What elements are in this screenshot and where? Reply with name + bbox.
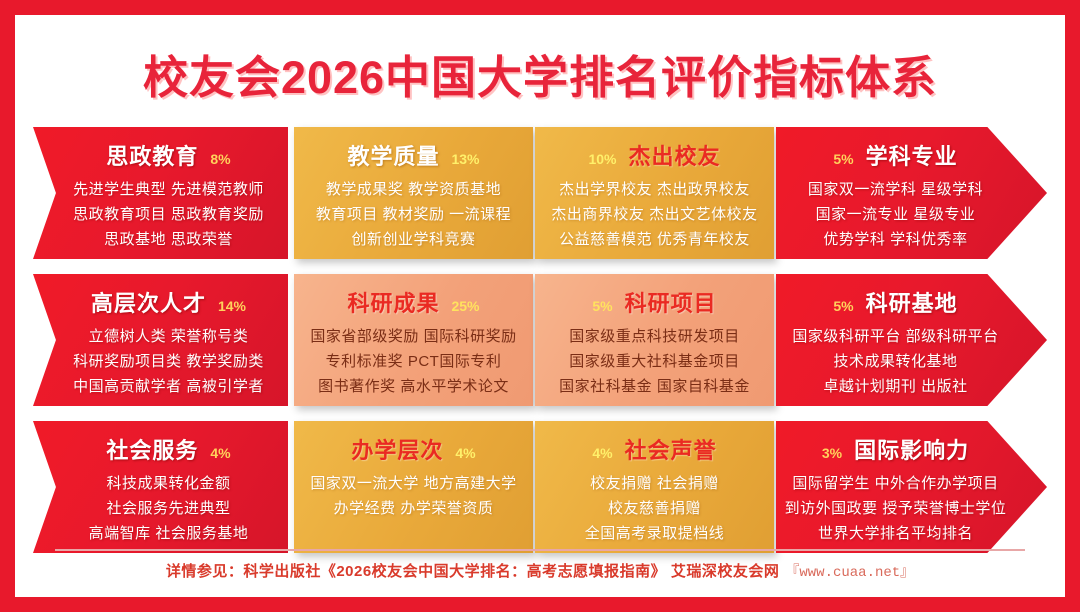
card-item-line: 公益慈善模范 优秀青年校友 <box>559 228 750 249</box>
card-item-line: 思政基地 思政荣誉 <box>104 228 233 249</box>
card-item-list: 国际留学生 中外合作办学项目到访外国政要 授予荣誉博士学位世界大学排名平均排名 <box>790 472 1001 543</box>
indicator-card[interactable]: 10%杰出校友杰出学界校友 杰出政界校友杰出商界校友 杰出文艺体校友公益慈善模范… <box>535 127 774 259</box>
card-item-line: 校友慈善捐赠 <box>608 497 701 518</box>
footer: 详情参见：科学出版社《2026校友会中国大学排名：高考志愿填报指南》 艾瑞深校友… <box>55 549 1025 581</box>
card-item-line: 办学经费 办学荣誉资质 <box>334 497 494 518</box>
card-item-line: 立德树人类 荣誉称号类 <box>89 325 249 346</box>
card-item-line: 高端智库 社会服务基地 <box>89 522 249 543</box>
card-item-line: 全国高考录取提档线 <box>585 522 725 543</box>
card-title: 社会服务 <box>106 433 198 465</box>
indicator-card[interactable]: 4%社会声誉校友捐赠 社会捐赠校友慈善捐赠全国高考录取提档线 <box>535 421 774 553</box>
card-item-list: 先进学生典型 先进模范教师思政教育项目 思政教育奖励思政基地 思政荣誉 <box>63 178 274 249</box>
card-title: 社会声誉 <box>625 433 717 465</box>
card-item-line: 教学成果奖 教学资质基地 <box>326 178 501 199</box>
card-item-line: 国际留学生 中外合作办学项目 <box>792 472 998 493</box>
indicator-card[interactable]: 高层次人才14%立德树人类 荣誉称号类科研奖励项目类 教学奖励类中国高贡献学者 … <box>33 274 288 406</box>
card-item-line: 国家双一流大学 地方高建大学 <box>310 472 516 493</box>
indicator-card[interactable]: 社会服务4%科技成果转化金额社会服务先进典型高端智库 社会服务基地 <box>33 421 288 553</box>
card-percent: 25% <box>451 298 479 314</box>
card-percent: 4% <box>210 445 230 461</box>
card-header: 办学层次4% <box>308 433 519 465</box>
card-item-line: 专利标准奖 PCT国际专利 <box>326 350 502 371</box>
card-item-line: 校友捐赠 社会捐赠 <box>590 472 719 493</box>
card-item-list: 教学成果奖 教学资质基地教育项目 教材奖励 一流课程创新创业学科竞赛 <box>308 178 519 249</box>
card-item-line: 科技成果转化金额 <box>106 472 230 493</box>
card-header: 5%学科专业 <box>790 139 1001 171</box>
card-header: 社会服务4% <box>63 433 274 465</box>
card-item-line: 国家社科基金 国家自科基金 <box>559 375 750 396</box>
card-item-line: 世界大学排名平均排名 <box>818 522 973 543</box>
poster-inner: 校友会2026中国大学排名评价指标体系 思政教育8%先进学生典型 先进模范教师思… <box>15 15 1065 597</box>
poster-frame: 校友会2026中国大学排名评价指标体系 思政教育8%先进学生典型 先进模范教师思… <box>0 0 1080 612</box>
card-item-list: 科技成果转化金额社会服务先进典型高端智库 社会服务基地 <box>63 472 274 543</box>
card-title: 教学质量 <box>347 139 439 171</box>
card-item-line: 国家级重大社科基金项目 <box>569 350 740 371</box>
card-title: 办学层次 <box>351 433 443 465</box>
card-item-line: 卓越计划期刊 出版社 <box>823 375 967 396</box>
card-title: 科研基地 <box>866 286 958 318</box>
card-item-line: 中国高贡献学者 高被引学者 <box>73 375 264 396</box>
indicator-card[interactable]: 办学层次4%国家双一流大学 地方高建大学办学经费 办学荣誉资质 <box>294 421 533 553</box>
card-item-list: 国家级科研平台 部级科研平台技术成果转化基地卓越计划期刊 出版社 <box>790 325 1001 396</box>
indicator-row-1: 思政教育8%先进学生典型 先进模范教师思政教育项目 思政教育奖励思政基地 思政荣… <box>33 127 1047 259</box>
card-item-list: 校友捐赠 社会捐赠校友慈善捐赠全国高考录取提档线 <box>549 472 760 543</box>
card-percent: 3% <box>822 445 842 461</box>
card-item-line: 技术成果转化基地 <box>833 350 957 371</box>
card-item-line: 优势学科 学科优秀率 <box>823 228 967 249</box>
card-header: 10%杰出校友 <box>549 139 760 171</box>
card-title: 科研成果 <box>347 286 439 318</box>
card-item-line: 国家一流专业 星级专业 <box>816 203 976 224</box>
card-percent: 5% <box>833 151 853 167</box>
card-item-line: 国家省部级奖励 国际科研奖励 <box>310 325 516 346</box>
card-item-line: 思政教育项目 思政教育奖励 <box>73 203 264 224</box>
card-header: 3%国际影响力 <box>790 433 1001 465</box>
card-item-line: 教育项目 教材奖励 一流课程 <box>316 203 511 224</box>
card-item-line: 图书著作奖 高水平学术论文 <box>318 375 509 396</box>
card-item-line: 到访外国政要 授予荣誉博士学位 <box>785 497 1007 518</box>
card-title: 高层次人才 <box>91 286 206 318</box>
card-percent: 4% <box>592 445 612 461</box>
card-header: 教学质量13% <box>308 139 519 171</box>
card-item-line: 国家级重点科技研发项目 <box>569 325 740 346</box>
card-title: 杰出校友 <box>629 139 721 171</box>
page-title: 校友会2026中国大学排名评价指标体系 <box>143 41 937 106</box>
indicator-row-2: 高层次人才14%立德树人类 荣誉称号类科研奖励项目类 教学奖励类中国高贡献学者 … <box>33 274 1047 406</box>
card-item-list: 立德树人类 荣誉称号类科研奖励项目类 教学奖励类中国高贡献学者 高被引学者 <box>63 325 274 396</box>
indicator-card[interactable]: 5%科研项目国家级重点科技研发项目国家级重大社科基金项目国家社科基金 国家自科基… <box>535 274 774 406</box>
card-percent: 10% <box>588 151 616 167</box>
card-item-list: 国家双一流大学 地方高建大学办学经费 办学荣誉资质 <box>308 472 519 518</box>
card-item-list: 国家省部级奖励 国际科研奖励专利标准奖 PCT国际专利图书著作奖 高水平学术论文 <box>308 325 519 396</box>
card-item-list: 国家双一流学科 星级学科国家一流专业 星级专业优势学科 学科优秀率 <box>790 178 1001 249</box>
indicator-card[interactable]: 科研成果25%国家省部级奖励 国际科研奖励专利标准奖 PCT国际专利图书著作奖 … <box>294 274 533 406</box>
card-percent: 8% <box>210 151 230 167</box>
card-percent: 5% <box>833 298 853 314</box>
card-title: 科研项目 <box>625 286 717 318</box>
card-title: 国际影响力 <box>854 433 969 465</box>
card-item-line: 社会服务先进典型 <box>106 497 230 518</box>
card-item-line: 国家双一流学科 星级学科 <box>808 178 983 199</box>
indicator-row-3: 社会服务4%科技成果转化金额社会服务先进典型高端智库 社会服务基地办学层次4%国… <box>33 421 1047 553</box>
indicator-card[interactable]: 教学质量13%教学成果奖 教学资质基地教育项目 教材奖励 一流课程创新创业学科竞… <box>294 127 533 259</box>
card-header: 5%科研项目 <box>549 286 760 318</box>
card-item-line: 杰出学界校友 杰出政界校友 <box>559 178 750 199</box>
card-item-line: 国家级科研平台 部级科研平台 <box>792 325 998 346</box>
card-header: 高层次人才14% <box>63 286 274 318</box>
card-item-line: 创新创业学科竞赛 <box>351 228 475 249</box>
title-container: 校友会2026中国大学排名评价指标体系 <box>15 41 1065 106</box>
footer-url[interactable]: 『www.cuaa.net』 <box>785 565 914 581</box>
indicator-card[interactable]: 思政教育8%先进学生典型 先进模范教师思政教育项目 思政教育奖励思政基地 思政荣… <box>33 127 288 259</box>
indicator-card[interactable]: 5%科研基地国家级科研平台 部级科研平台技术成果转化基地卓越计划期刊 出版社 <box>776 274 1047 406</box>
card-percent: 4% <box>455 445 475 461</box>
card-header: 4%社会声誉 <box>549 433 760 465</box>
card-header: 思政教育8% <box>63 139 274 171</box>
indicator-grid: 思政教育8%先进学生典型 先进模范教师思政教育项目 思政教育奖励思政基地 思政荣… <box>33 127 1047 553</box>
card-item-line: 先进学生典型 先进模范教师 <box>73 178 264 199</box>
card-title: 学科专业 <box>866 139 958 171</box>
card-header: 5%科研基地 <box>790 286 1001 318</box>
footer-text: 详情参见：科学出版社《2026校友会中国大学排名：高考志愿填报指南》 艾瑞深校友… <box>166 563 780 580</box>
card-percent: 5% <box>592 298 612 314</box>
card-percent: 13% <box>451 151 479 167</box>
indicator-card[interactable]: 3%国际影响力国际留学生 中外合作办学项目到访外国政要 授予荣誉博士学位世界大学… <box>776 421 1047 553</box>
card-header: 科研成果25% <box>308 286 519 318</box>
card-item-line: 科研奖励项目类 教学奖励类 <box>73 350 264 371</box>
indicator-card[interactable]: 5%学科专业国家双一流学科 星级学科国家一流专业 星级专业优势学科 学科优秀率 <box>776 127 1047 259</box>
card-item-line: 杰出商界校友 杰出文艺体校友 <box>551 203 757 224</box>
card-title: 思政教育 <box>106 139 198 171</box>
card-percent: 14% <box>218 298 246 314</box>
card-item-list: 杰出学界校友 杰出政界校友杰出商界校友 杰出文艺体校友公益慈善模范 优秀青年校友 <box>549 178 760 249</box>
card-item-list: 国家级重点科技研发项目国家级重大社科基金项目国家社科基金 国家自科基金 <box>549 325 760 396</box>
